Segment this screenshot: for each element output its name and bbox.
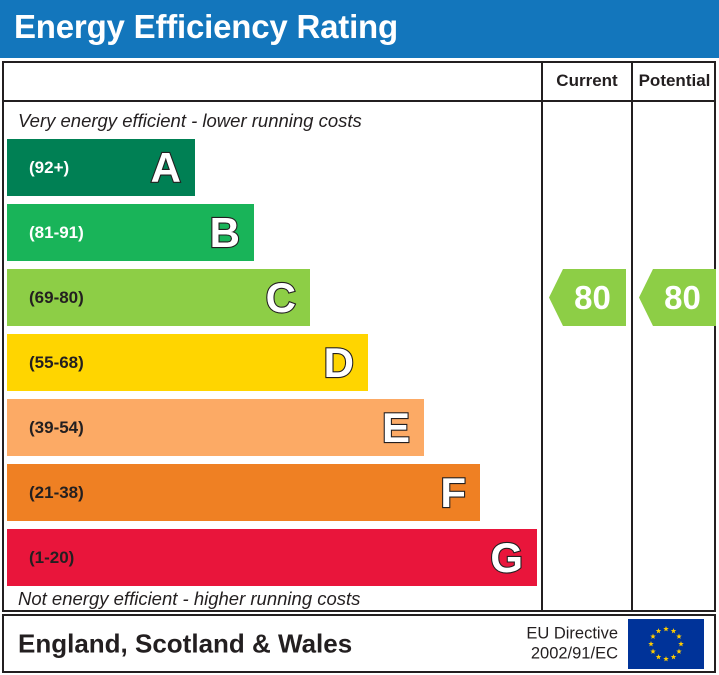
band-letter-b: B [210, 212, 240, 254]
potential-column-divider [631, 63, 633, 610]
current-rating-arrow: 80 [549, 269, 626, 326]
chart-frame: Current Potential Very energy efficient … [2, 61, 716, 612]
eu-directive-line1: EU Directive [526, 623, 618, 644]
band-list: (92+)A(81-91)B(69-80)C(55-68)D(39-54)E(2… [7, 139, 541, 579]
band-c: (69-80)C [7, 269, 310, 326]
band-range-d: (55-68) [29, 353, 84, 373]
band-letter-f: F [440, 472, 466, 514]
band-letter-g: G [490, 537, 523, 579]
band-letter-a: A [151, 147, 181, 189]
eu-directive-label: EU Directive 2002/91/EC [526, 623, 618, 664]
band-range-g: (1-20) [29, 548, 74, 568]
band-letter-e: E [382, 407, 410, 449]
band-a: (92+)A [7, 139, 195, 196]
band-range-b: (81-91) [29, 223, 84, 243]
eu-directive-line2: 2002/91/EC [526, 644, 618, 665]
band-f: (21-38)F [7, 464, 480, 521]
header-divider [4, 100, 714, 102]
band-letter-c: C [266, 277, 296, 319]
band-range-f: (21-38) [29, 483, 84, 503]
current-rating-arrow-value: 80 [574, 281, 611, 314]
potential-rating-arrow-value: 80 [664, 281, 701, 314]
caption-not-efficient: Not energy efficient - higher running co… [18, 588, 360, 610]
eu-flag-icon [628, 619, 704, 669]
band-letter-d: D [324, 342, 354, 384]
caption-very-efficient: Very energy efficient - lower running co… [18, 110, 362, 132]
title-bar: Energy Efficiency Rating [0, 0, 719, 58]
current-column-divider [541, 63, 543, 610]
band-range-c: (69-80) [29, 288, 84, 308]
column-header-potential: Potential [633, 71, 716, 91]
footer-bar: England, Scotland & Wales EU Directive 2… [2, 614, 716, 673]
energy-efficiency-rating-chart: Energy Efficiency Rating Current Potenti… [0, 0, 719, 675]
band-b: (81-91)B [7, 204, 254, 261]
band-g: (1-20)G [7, 529, 537, 586]
country-label: England, Scotland & Wales [18, 628, 352, 659]
column-header-current: Current [543, 71, 631, 91]
band-e: (39-54)E [7, 399, 424, 456]
potential-rating-arrow: 80 [639, 269, 716, 326]
band-range-e: (39-54) [29, 418, 84, 438]
band-range-a: (92+) [29, 158, 69, 178]
band-d: (55-68)D [7, 334, 368, 391]
page-title: Energy Efficiency Rating [14, 8, 398, 46]
